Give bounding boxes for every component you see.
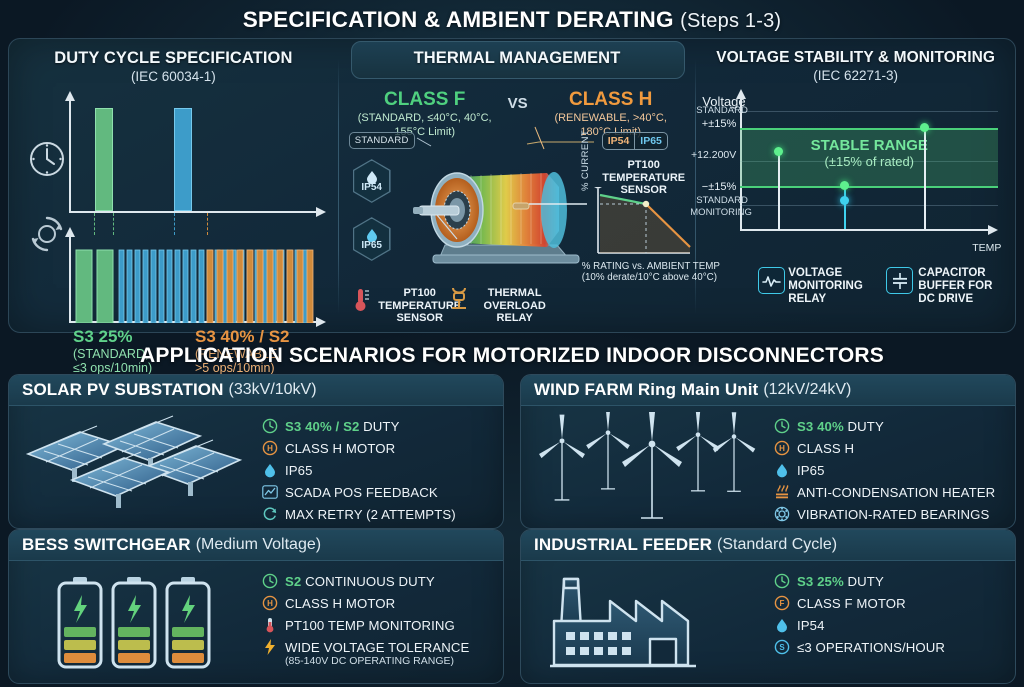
solar-panels-illustration [9,406,257,529]
page-title-sub: (Steps 1-3) [680,10,781,32]
ip-pill-ip65: IP65 [635,133,667,149]
y-axis-arrow-icon [735,89,747,101]
svg-text:S: S [779,643,785,652]
sensor-callout-line-3: SENSOR [365,312,475,325]
feature-item: S2 CONTINUOUS DUTY [261,570,499,592]
clock-icon [261,573,278,590]
relay-callout-line-1: THERMAL [467,287,563,300]
feature-text: VIBRATION-RATED BEARINGS [797,507,989,522]
feature-text: IP65 [797,463,825,478]
battery-bank-svg [33,569,233,677]
cap-label-line-2: BUFFER FOR [918,280,1014,293]
feature-text: IP54 [797,618,825,633]
feature-text: S2 CONTINUOUS DUTY [285,574,435,589]
feature-item: IP65 [773,459,1011,481]
feature-item: S3 25% DUTY [773,570,1011,592]
thermal-panel: THERMAL MANAGEMENT CLASS F (STANDARD, ≤4… [339,39,696,332]
feature-text: ANTI-CONDENSATION HEATER [797,485,995,500]
duty-top-y-axis [69,97,71,213]
factory-svg [550,569,740,677]
card-feature-list: S2 CONTINUOUS DUTY H CLASS H MOTOR PT100… [257,561,503,684]
card-title-main: WIND FARM Ring Main Unit [534,380,758,400]
relay-label-line-2: MONITORING [788,280,886,293]
feature-text: CLASS F MOTOR [797,596,906,611]
scenario-card-bess[interactable]: BESS SWITCHGEAR (Medium Voltage) [8,529,504,684]
card-title-sub: (Medium Voltage) [191,536,321,554]
voltage-panel-title: VOLTAGE STABILITY & MONITORING [696,39,1015,67]
feature-item: MAX RETRY (2 ATTEMPTS) [261,503,499,525]
card-header: SOLAR PV SUBSTATION (33kV/10kV) [9,375,503,406]
feature-item: S ≤3 OPERATIONS/HOUR [773,636,1011,658]
feature-text: IP65 [285,463,313,478]
svg-text:H: H [779,444,785,453]
duty-cycle-train [69,231,319,323]
waveform-icon [762,274,781,288]
duty-pulse-bar-blue [174,108,192,211]
pt100-callout-line-2: TEMPERATURE [594,172,694,185]
voltage-stem [924,127,926,229]
duty-pulse-bar-green [95,108,113,211]
derating-chart: % CURRENT % RATING vs. AMBIENT TEMP (10%… [584,187,692,277]
bearing-icon [773,506,790,523]
feature-item: SCADA POS FEEDBACK [261,481,499,503]
feature-item: H CLASS H MOTOR [261,592,499,614]
feature-item: F CLASS F MOTOR [773,592,1011,614]
pt100-callout-line-1: PT100 [594,159,694,172]
relay-callout-line-2: OVERLOAD [467,300,563,313]
voltage-point-cyan [840,196,849,205]
cap-label-line-1: CAPACITOR [918,267,1014,280]
voltage-gridline [740,111,998,112]
cycle-arrows-icon [27,213,67,253]
voltage-label-monitoring: MONITORING [690,207,736,218]
feature-text: MAX RETRY (2 ATTEMPTS) [285,507,456,522]
wind-turbines-illustration [521,406,769,529]
relay-callout-line-3: RELAY [467,312,563,325]
card-header: INDUSTRIAL FEEDER (Standard Cycle) [521,530,1015,561]
voltage-x-axis [740,229,990,231]
motor-cutaway-illustration [397,151,597,271]
feature-text: CLASS H MOTOR [285,441,395,456]
svg-text:H: H [267,444,273,453]
chart-icon [261,484,278,501]
svg-text:H: H [267,599,273,608]
batteries-illustration [9,561,257,684]
cap-label-line-3: DC DRIVE [918,293,1014,306]
svg-text:F: F [779,599,784,608]
standard-tag: STANDARD [349,132,415,149]
card-title-main: BESS SWITCHGEAR [22,535,191,555]
infographic-page: SPECIFICATION & AMBIENT DERATING (Steps … [0,0,1024,687]
voltage-label-standard-top: STANDARD [696,105,736,116]
x-axis-arrow-icon [314,206,326,218]
voltage-monitoring-relay-icon-box [758,267,785,294]
derate-plot [594,187,692,261]
class-h-desc-1: (RENEWABLE, >40°C, [536,111,686,125]
thermometer-icon [261,617,278,634]
x-axis-arrow-icon [986,224,998,236]
voltage-stem [844,185,846,229]
ip54-hex-badge: IP54 [353,159,391,203]
relay-label-line-1: VOLTAGE [788,267,886,280]
card-body: S3 40% DUTY H CLASS H IP65 ANTI-CONDENSA… [521,406,1015,529]
class-h-icon: H [261,440,278,457]
feature-item: H CLASS H [773,437,1011,459]
droplet-icon [261,462,278,479]
duty-panel-subtitle: (IEC 60034-1) [9,68,338,84]
card-body: S3 25% DUTY F CLASS F MOTOR IP54 S ≤3 OP… [521,561,1015,684]
duty-panel-title: DUTY CYCLE SPECIFICATION [9,39,338,68]
scenarios-section-title: APPLICATION SCENARIOS FOR MOTORIZED INDO… [0,344,1024,368]
scenario-card-wind-farm[interactable]: WIND FARM Ring Main Unit (12kV/24kV) [520,374,1016,529]
feature-note: (85-140V DC OPERATING RANGE) [261,655,499,667]
wind-farm-svg [530,412,760,524]
specification-band: DUTY CYCLE SPECIFICATION (IEC 60034-1) [8,38,1016,333]
card-title-main: SOLAR PV SUBSTATION [22,380,224,400]
duty-chart: S3 25% (STANDARD, ≤3 ops/10min) S3 40% /… [9,91,339,331]
ip65-badge-label: IP65 [361,240,382,251]
card-title-sub: (33kV/10kV) [224,381,317,399]
ops-icon: S [773,639,790,656]
class-f-block: CLASS F (STANDARD, ≤40°C, 40°C, 155°C Li… [350,89,500,138]
droplet-icon [773,617,790,634]
voltage-panel: VOLTAGE STABILITY & MONITORING (IEC 6227… [696,39,1015,332]
feature-item: VIBRATION-RATED BEARINGS [773,503,1011,525]
voltage-x-axis-label: TEMP [972,242,1001,254]
derate-y-axis-label: % CURRENT [580,130,591,191]
class-h-block: CLASS H (RENEWABLE, >40°C, 180°C Limit) [536,89,686,138]
class-h-icon: H [261,595,278,612]
page-title: SPECIFICATION & AMBIENT DERATING (Steps … [0,0,1024,33]
class-h-title: CLASS H [536,89,686,111]
card-header: WIND FARM Ring Main Unit (12kV/24kV) [521,375,1015,406]
ip-pill-ip54: IP54 [603,133,636,149]
feature-text: SCADA POS FEEDBACK [285,485,438,500]
page-title-main: SPECIFICATION & AMBIENT DERATING [243,7,674,32]
voltage-label-standard-bottom: STANDARD [696,195,736,206]
class-f-title: CLASS F [350,89,500,111]
card-feature-list: S3 40% DUTY H CLASS H IP65 ANTI-CONDENSA… [769,406,1015,529]
feature-text: ≤3 OPERATIONS/HOUR [797,640,945,655]
class-comparison: CLASS F (STANDARD, ≤40°C, 40°C, 155°C Li… [339,89,697,138]
feature-item: PT100 TEMP MONITORING [261,614,499,636]
thermal-overload-relay-callout: THERMAL OVERLOAD RELAY [467,287,563,325]
card-header: BESS SWITCHGEAR (Medium Voltage) [9,530,503,561]
card-body: S3 40% / S2 DUTY H CLASS H MOTOR IP65 SC… [9,406,503,529]
ip54-badge-label: IP54 [361,182,382,193]
voltage-panel-subtitle: (IEC 62271-3) [696,67,1015,83]
feature-text: WIDE VOLTAGE TOLERANCE [285,640,469,655]
droplet-icon [773,462,790,479]
thermal-panel-title: THERMAL MANAGEMENT [339,39,696,68]
ip65-hex-badge: IP65 [353,217,391,261]
feature-text: S3 25% DUTY [797,574,884,589]
feature-text: PT100 TEMP MONITORING [285,618,455,633]
clock-icon [261,418,278,435]
clock-icon [773,573,790,590]
feature-text: S3 40% DUTY [797,419,884,434]
card-feature-list: S3 25% DUTY F CLASS F MOTOR IP54 S ≤3 OP… [769,561,1015,684]
factory-illustration [521,561,769,684]
class-f-icon: F [773,595,790,612]
capacitor-buffer-label: CAPACITOR BUFFER FOR DC DRIVE [918,267,1014,306]
scenario-card-industrial-feeder[interactable]: INDUSTRIAL FEEDER (Standard Cycle) [520,529,1016,684]
feature-item: S3 40% DUTY [773,415,1011,437]
feature-item: IP54 [773,614,1011,636]
feature-item: ANTI-CONDENSATION HEATER [773,481,1011,503]
retry-icon [261,506,278,523]
heater-icon [773,484,790,501]
capacitor-icon-box [886,267,913,294]
card-body: S2 CONTINUOUS DUTY H CLASS H MOTOR PT100… [9,561,503,684]
feature-item: H CLASS H MOTOR [261,437,499,459]
voltage-chart: STABLE RANGE (±15% of rated) [740,99,998,247]
feature-item: IP65 [261,459,499,481]
solar-array-svg [18,412,248,524]
class-h-icon: H [773,440,790,457]
class-f-desc-1: (STANDARD, ≤40°C, 40°C, [350,111,500,125]
vs-label: VS [500,89,536,112]
card-title-main: INDUSTRIAL FEEDER [534,535,712,555]
ip-rating-pill: IP54 IP65 [602,132,668,150]
voltage-stem [778,151,780,229]
feature-text: S3 40% / S2 DUTY [285,419,399,434]
voltage-point-green [840,181,849,190]
voltage-monitoring-relay-label: VOLTAGE MONITORING RELAY [788,267,886,306]
duty-cycle-panel: DUTY CYCLE SPECIFICATION (IEC 60034-1) [9,39,338,332]
y-axis-arrow-icon [64,91,76,103]
voltage-label-plus15: +±15% [696,118,736,130]
relay-label-line-3: RELAY [788,293,886,306]
clock-icon [27,139,67,179]
feature-text: CLASS H [797,441,854,456]
bolt-icon [261,639,278,656]
card-title-sub: (Standard Cycle) [712,536,837,554]
capacitor-icon [891,272,909,290]
card-title-sub: (12kV/24kV) [758,381,851,399]
voltage-label-12200v: +12.200V [690,149,736,161]
feature-text: CLASS H MOTOR [285,596,395,611]
clock-icon [773,418,790,435]
scenario-card-solar-pv[interactable]: SOLAR PV SUBSTATION (33kV/10kV) [8,374,504,529]
card-feature-list: S3 40% / S2 DUTY H CLASS H MOTOR IP65 SC… [257,406,503,529]
duty-top-x-axis [69,211,319,213]
voltage-label-minus15: −±15% [696,181,736,193]
feature-item: S3 40% / S2 DUTY [261,415,499,437]
